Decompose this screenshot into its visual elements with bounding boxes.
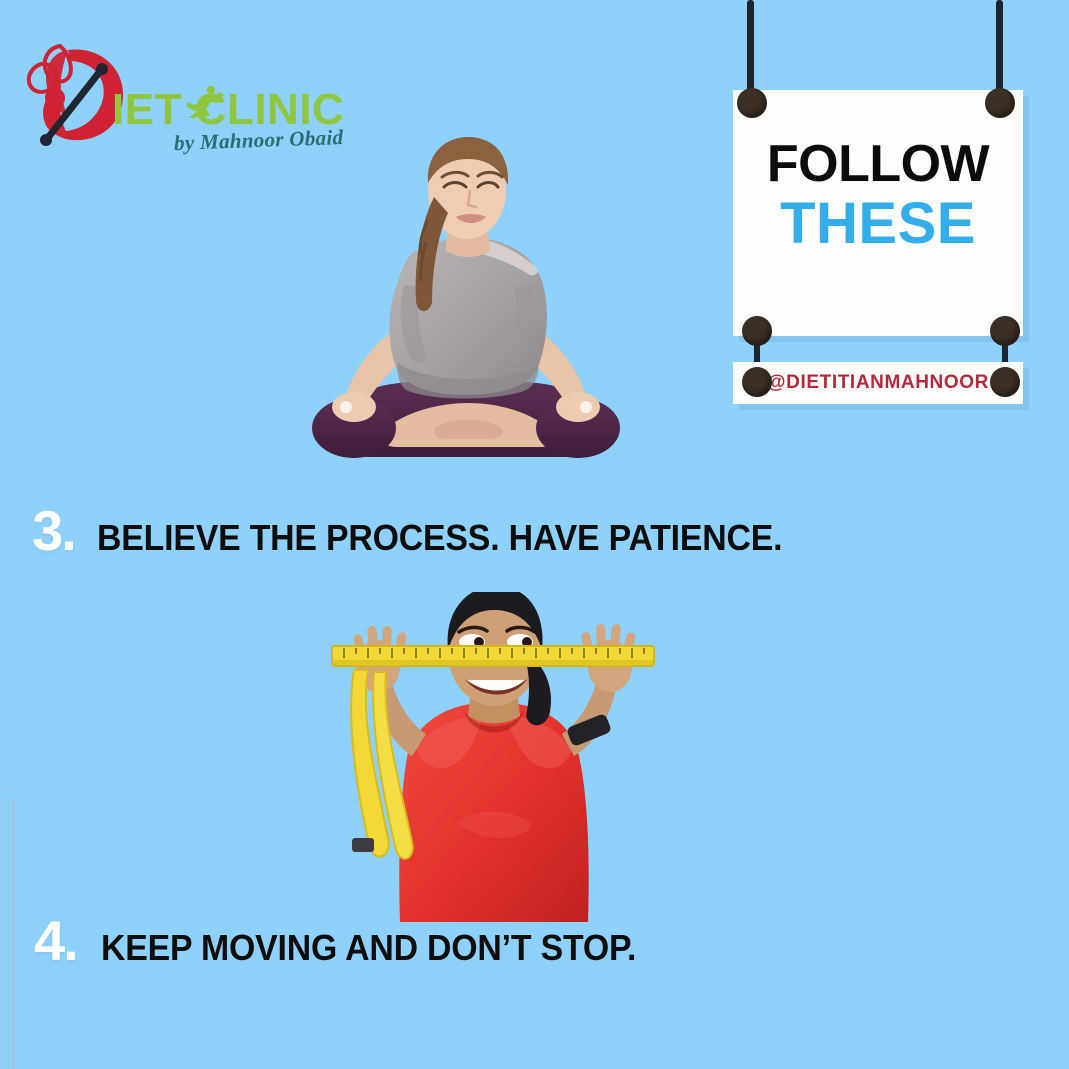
tip-4-caption: 4. KEEP MOVING AND DON’T STOP.	[34, 913, 670, 969]
sign-rope-right	[996, 0, 1003, 100]
sign-rope-left	[747, 0, 754, 100]
follow-these-hanging-sign: FOLLOW THESE @DIETITIANMAHNOOR	[733, 0, 1029, 412]
tip-4-number: 4.	[34, 913, 77, 969]
sign-knob-top-right	[985, 88, 1015, 118]
handle-knob-right	[990, 367, 1020, 397]
handle-panel[interactable]: @DIETITIANMAHNOOR	[733, 362, 1023, 404]
sign-panel: FOLLOW THESE	[733, 90, 1023, 336]
sign-knob-bottom-right	[990, 316, 1020, 346]
sign-knob-bottom-left	[742, 316, 772, 346]
post-canvas: IET CLINIC by Mahnoor Obaid FOLLOW THESE…	[0, 0, 1069, 1069]
handle-knob-left	[742, 367, 772, 397]
diet-clinic-logo: IET CLINIC by Mahnoor Obaid	[24, 38, 324, 156]
tip-3-number: 3.	[32, 503, 75, 559]
carousel-card-edge-fill	[0, 789, 13, 1069]
tip-3-text: BELIEVE THE PROCESS. HAVE PATIENCE.	[97, 520, 782, 556]
sign-line-these: THESE	[733, 195, 1023, 253]
tip-3-caption: 3. BELIEVE THE PROCESS. HAVE PATIENCE.	[32, 503, 826, 559]
running-person-icon	[184, 84, 228, 120]
sign-line-follow: FOLLOW	[733, 138, 1023, 190]
tip-4-text: KEEP MOVING AND DON’T STOP.	[101, 930, 636, 966]
photo-woman-meditating	[286, 135, 646, 483]
sign-knob-top-left	[737, 88, 767, 118]
photo-woman-measuring-tape	[316, 592, 671, 922]
instagram-handle[interactable]: @DIETITIANMAHNOOR	[767, 372, 989, 394]
